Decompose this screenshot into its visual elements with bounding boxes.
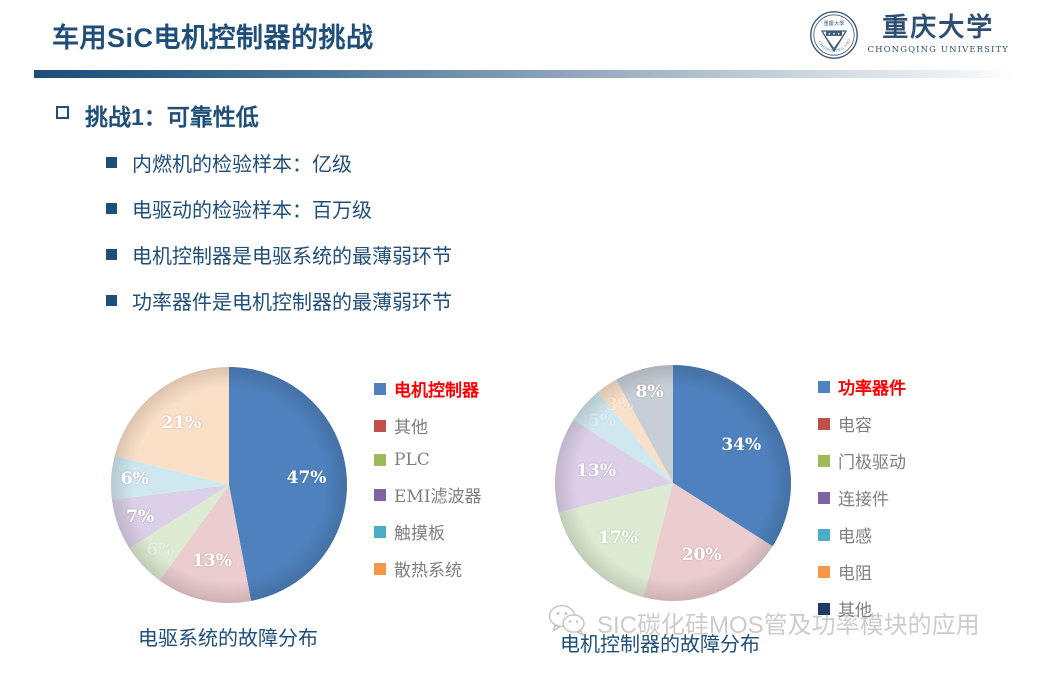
legend-item-label: PLC [394, 450, 430, 470]
pie-slice-label: 6% [121, 469, 149, 489]
legend-item[interactable]: 其他 [818, 596, 906, 621]
section-heading-label: 挑战1：可靠性低 [85, 98, 259, 132]
pie-slice-label: 3% [606, 395, 634, 415]
solid-square-bullet-icon [106, 157, 117, 168]
legend-right: 功率器件电容门极驱动连接件电感电阻其他 [818, 358, 906, 633]
legend-item[interactable]: 散热系统 [374, 556, 482, 581]
legend-item[interactable]: EMI滤波器 [374, 482, 482, 507]
page-title: 车用SiC电机控制器的挑战 [52, 16, 374, 55]
legend-swatch-icon [818, 492, 830, 504]
pie-slice-label: 21% [161, 413, 201, 433]
legend-swatch-icon [374, 526, 386, 538]
legend-item-label: EMI滤波器 [394, 482, 482, 507]
legend-swatch-icon [374, 489, 386, 501]
pie-slice-label: 17% [598, 528, 638, 548]
university-wordmark: 重庆大学 CHONGQING UNIVERSITY [867, 15, 1009, 54]
legend-item[interactable]: 电机控制器 [374, 376, 482, 401]
solid-square-bullet-icon [106, 249, 117, 260]
legend-item-label: 电阻 [838, 559, 872, 584]
slide-header: 车用SiC电机控制器的挑战 重慶大學 CHONGQING UNIVERSITY [0, 0, 1041, 82]
legend-swatch-icon [818, 381, 830, 393]
legend-item-label: 其他 [394, 413, 428, 438]
legend-item-label: 触摸板 [394, 519, 445, 544]
list-item-label: 电机控制器是电驱系统的最薄弱环节 [132, 240, 452, 269]
header-divider [34, 70, 1014, 78]
legend-item-label: 功率器件 [838, 374, 906, 399]
university-name-cn: 重庆大学 [882, 15, 994, 42]
slide-root: 车用SiC电机控制器的挑战 重慶大學 CHONGQING UNIVERSITY [0, 0, 1041, 677]
legend-swatch-icon [374, 563, 386, 575]
svg-text:重慶大學: 重慶大學 [824, 19, 845, 27]
pie-slice-label: 47% [287, 468, 327, 488]
pie-slice-label: 13% [192, 551, 232, 571]
pie-slice-label: 20% [682, 545, 722, 565]
solid-square-bullet-icon [106, 295, 117, 306]
pie-chart-left: 47%13%6%7%6%21% [96, 360, 366, 610]
chart-motor-controller-failures: 34%20%17%13%5%3%8% 功率器件电容门极驱动连接件电感电阻其他 [540, 358, 906, 633]
pie-slice-label: 34% [721, 435, 761, 455]
legend-item-label: 连接件 [838, 485, 889, 510]
legend-swatch-icon [374, 454, 386, 466]
chart-caption-right: 电机控制器的故障分布 [560, 628, 760, 657]
bullet-list: 内燃机的检验样本：亿级 电驱动的检验样本：百万级 电机控制器是电驱系统的最薄弱环… [106, 148, 452, 332]
legend-swatch-icon [818, 529, 830, 541]
legend-item[interactable]: PLC [374, 450, 482, 470]
legend-item-label: 电感 [838, 522, 872, 547]
legend-item[interactable]: 功率器件 [818, 374, 906, 399]
legend-swatch-icon [818, 603, 830, 615]
pie-svg-right [540, 358, 810, 608]
chart-caption-left: 电驱系统的故障分布 [138, 622, 318, 651]
legend-item[interactable]: 电阻 [818, 559, 906, 584]
legend-item[interactable]: 门极驱动 [818, 448, 906, 473]
legend-left: 电机控制器其他PLCEMI滤波器触摸板散热系统 [374, 360, 482, 593]
legend-item-label: 电机控制器 [394, 376, 479, 401]
university-logo: 重慶大學 CHONGQING UNIVERSITY 重庆大学 CHONGQING… [809, 10, 1009, 60]
legend-item[interactable]: 电感 [818, 522, 906, 547]
list-item: 功率器件是电机控制器的最薄弱环节 [106, 286, 452, 315]
pie-slice-label: 7% [126, 507, 154, 527]
legend-item-label: 散热系统 [394, 556, 462, 581]
solid-square-bullet-icon [106, 203, 117, 214]
legend-item[interactable]: 触摸板 [374, 519, 482, 544]
legend-item-label: 门极驱动 [838, 448, 906, 473]
list-item: 电机控制器是电驱系统的最薄弱环节 [106, 240, 452, 269]
legend-swatch-icon [818, 455, 830, 467]
legend-swatch-icon [818, 418, 830, 430]
legend-swatch-icon [374, 383, 386, 395]
hollow-square-bullet-icon [56, 106, 69, 119]
section-heading: 挑战1：可靠性低 [56, 98, 259, 132]
legend-swatch-icon [374, 420, 386, 432]
list-item-label: 电驱动的检验样本：百万级 [132, 194, 372, 223]
list-item-label: 功率器件是电机控制器的最薄弱环节 [132, 286, 452, 315]
list-item: 内燃机的检验样本：亿级 [106, 148, 452, 177]
list-item: 电驱动的检验样本：百万级 [106, 194, 452, 223]
pie-slice-label: 8% [636, 382, 664, 402]
chart-electric-drive-failures: 47%13%6%7%6%21% 电机控制器其他PLCEMI滤波器触摸板散热系统 [96, 360, 482, 610]
legend-item[interactable]: 连接件 [818, 485, 906, 510]
legend-item[interactable]: 电容 [818, 411, 906, 436]
university-name-en: CHONGQING UNIVERSITY [867, 45, 1009, 55]
legend-swatch-icon [818, 566, 830, 578]
university-seal-icon: 重慶大學 CHONGQING UNIVERSITY [809, 10, 859, 60]
list-item-label: 内燃机的检验样本：亿级 [132, 148, 352, 177]
legend-item-label: 其他 [838, 596, 872, 621]
pie-chart-right: 34%20%17%13%5%3%8% [540, 358, 810, 608]
legend-item-label: 电容 [838, 411, 872, 436]
legend-item[interactable]: 其他 [374, 413, 482, 438]
pie-slice-label: 13% [576, 461, 616, 481]
pie-slice-label: 6% [146, 540, 174, 560]
